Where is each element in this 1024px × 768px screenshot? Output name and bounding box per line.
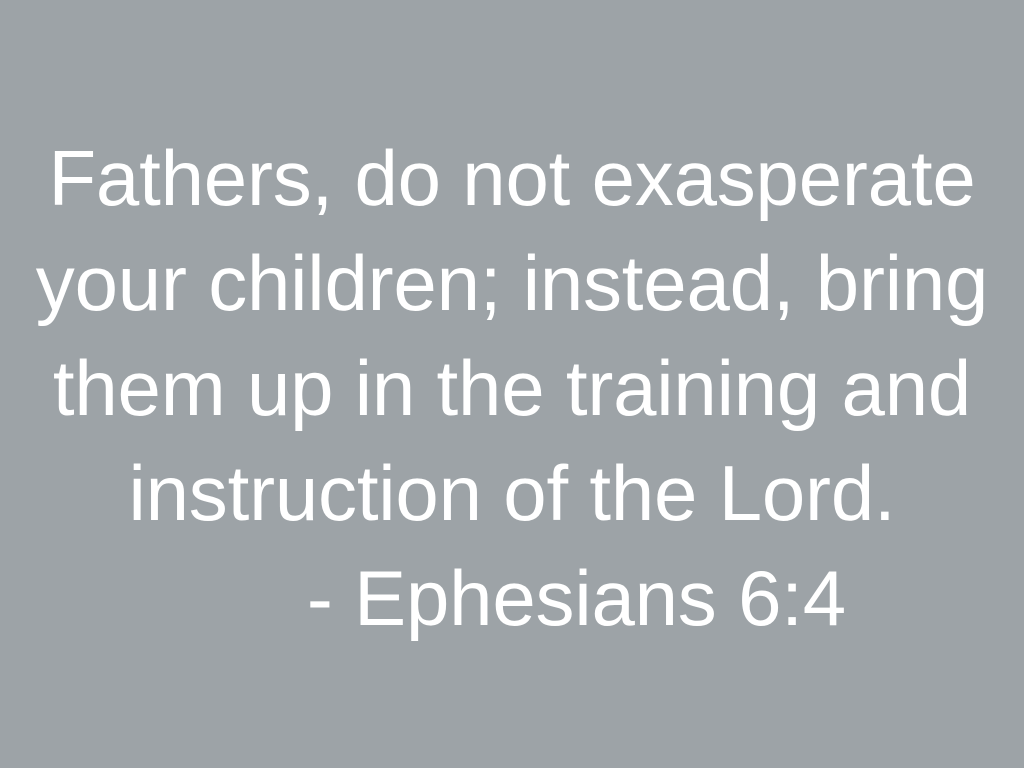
quote-attribution: - Ephesians 6:4 [8,546,1016,651]
quote-text-block: Fathers, do not exasperate your children… [0,126,1024,651]
quote-slide: Fathers, do not exasperate your children… [0,0,1024,768]
quote-line-1: Fathers, do not exasperate [8,126,1016,231]
quote-line-2: your children; instead, bring [8,231,1016,336]
quote-line-3: them up in the training and [8,336,1016,441]
quote-line-4: instruction of the Lord. [8,441,1016,546]
